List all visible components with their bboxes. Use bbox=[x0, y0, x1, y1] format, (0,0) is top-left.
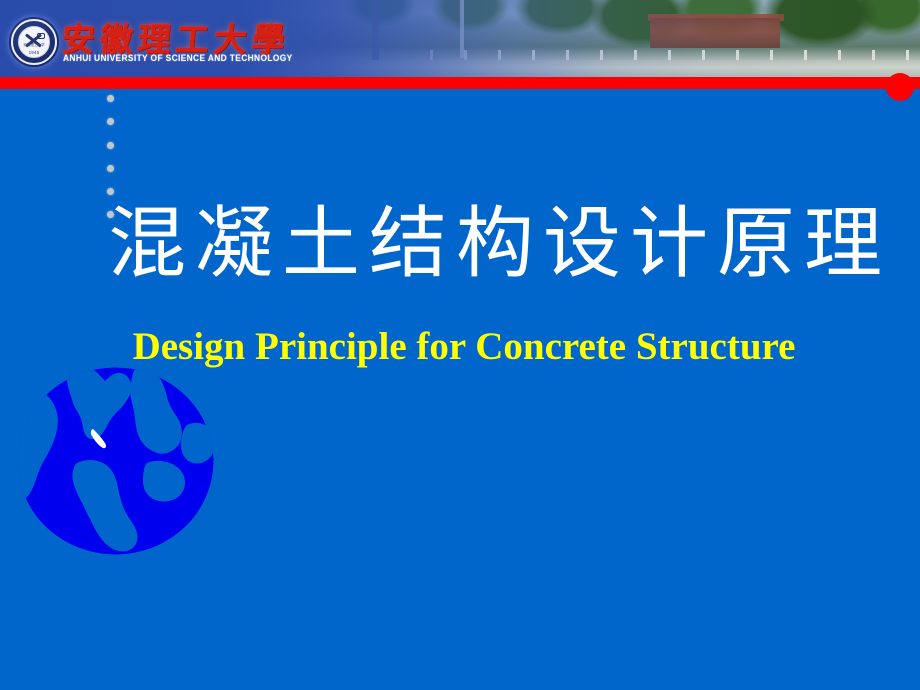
world-globe-graphic bbox=[17, 367, 214, 555]
red-divider-bar bbox=[0, 77, 920, 89]
slide-subtitle-english: Design Principle for Concrete Structure bbox=[64, 324, 864, 369]
header-banner: 安徽理工大学 1945 安徽理工大學 ANHUI UNIVERSITY OF S… bbox=[0, 0, 920, 78]
seal-year-text: 1945 bbox=[9, 50, 59, 55]
red-circle-accent bbox=[886, 73, 914, 101]
presentation-slide: 安徽理工大学 1945 安徽理工大學 ANHUI UNIVERSITY OF S… bbox=[0, 0, 920, 690]
bullet-dot-1 bbox=[107, 95, 114, 102]
seal-tool-head-icon bbox=[37, 33, 45, 39]
globe-land-east-edge bbox=[181, 423, 214, 464]
slide-title-chinese: 混凝土结构设计原理 bbox=[108, 198, 868, 290]
bullet-dot-3 bbox=[107, 142, 114, 149]
bullet-dot-5 bbox=[107, 188, 114, 195]
seal-mini-text: 安徽理工大学 bbox=[9, 43, 59, 48]
university-seal-icon: 安徽理工大学 1945 bbox=[9, 17, 59, 67]
bullet-dot-4 bbox=[107, 165, 114, 172]
university-name-english: ANHUI UNIVERSITY OF SCIENCE AND TECHNOLO… bbox=[63, 53, 293, 63]
bullet-dot-2 bbox=[107, 118, 114, 125]
